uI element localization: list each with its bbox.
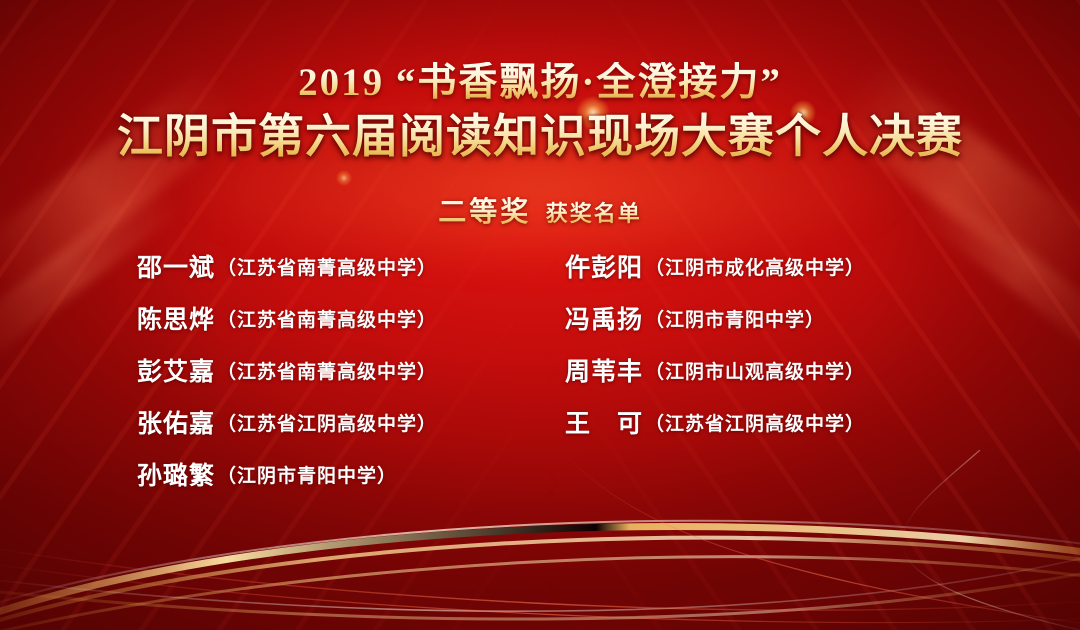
winner-name: 邵一斌 (137, 248, 215, 284)
winner-school: （江阴市青阳中学） (645, 305, 825, 332)
list-item: 王 可 （江苏省江阴高级中学） (545, 396, 955, 448)
winner-school: （江阴市青阳中学） (217, 461, 397, 488)
winner-school: （江阴市成化高级中学） (645, 253, 865, 280)
winner-school: （江苏省江阴高级中学） (217, 409, 437, 436)
list-item: 张佑嘉 （江苏省江阴高级中学） (125, 396, 535, 448)
winner-school: （江苏省南菁高级中学） (217, 357, 437, 384)
winner-school: （江苏省江阴高级中学） (645, 409, 865, 436)
title-year: 2019 “书香飘扬·全澄接力” (0, 62, 1080, 104)
poster-content: 2019 “书香飘扬·全澄接力” 江阴市第六届阅读知识现场大赛个人决赛 二等奖 … (0, 0, 1080, 630)
winner-name: 张佑嘉 (137, 404, 215, 440)
winner-name: 王 可 (565, 404, 643, 440)
award-list-label: 获奖名单 (546, 201, 642, 226)
list-item: 仵彭阳 （江阴市成化高级中学） (545, 240, 955, 292)
award-heading: 二等奖 获奖名单 (0, 190, 1080, 230)
winner-name: 彭艾嘉 (137, 352, 215, 388)
title-block: 2019 “书香飘扬·全澄接力” 江阴市第六届阅读知识现场大赛个人决赛 (0, 62, 1080, 165)
title-main: 江阴市第六届阅读知识现场大赛个人决赛 (0, 109, 1080, 165)
list-item: 邵一斌 （江苏省南菁高级中学） (125, 240, 535, 292)
winner-school: （江阴市山观高级中学） (645, 357, 865, 384)
list-item: 冯禹扬 （江阴市青阳中学） (545, 292, 955, 344)
winner-school: （江苏省南菁高级中学） (217, 253, 437, 280)
list-item: 周苇丰 （江阴市山观高级中学） (545, 344, 955, 396)
award-poster: 2019 “书香飘扬·全澄接力” 江阴市第六届阅读知识现场大赛个人决赛 二等奖 … (0, 0, 1080, 630)
list-item: 彭艾嘉 （江苏省南菁高级中学） (125, 344, 535, 396)
award-grade-label: 二等奖 (438, 197, 531, 228)
winner-name: 周苇丰 (565, 352, 643, 388)
winner-name: 孙璐繁 (137, 456, 215, 492)
winner-name: 冯禹扬 (565, 300, 643, 336)
winner-list: 邵一斌 （江苏省南菁高级中学） 仵彭阳 （江阴市成化高级中学） 陈思烨 （江苏省… (0, 240, 1080, 500)
winner-name: 仵彭阳 (565, 248, 643, 284)
winner-school: （江苏省南菁高级中学） (217, 305, 437, 332)
list-item: 孙璐繁 （江阴市青阳中学） (125, 448, 535, 500)
winner-name: 陈思烨 (137, 300, 215, 336)
list-item: 陈思烨 （江苏省南菁高级中学） (125, 292, 535, 344)
